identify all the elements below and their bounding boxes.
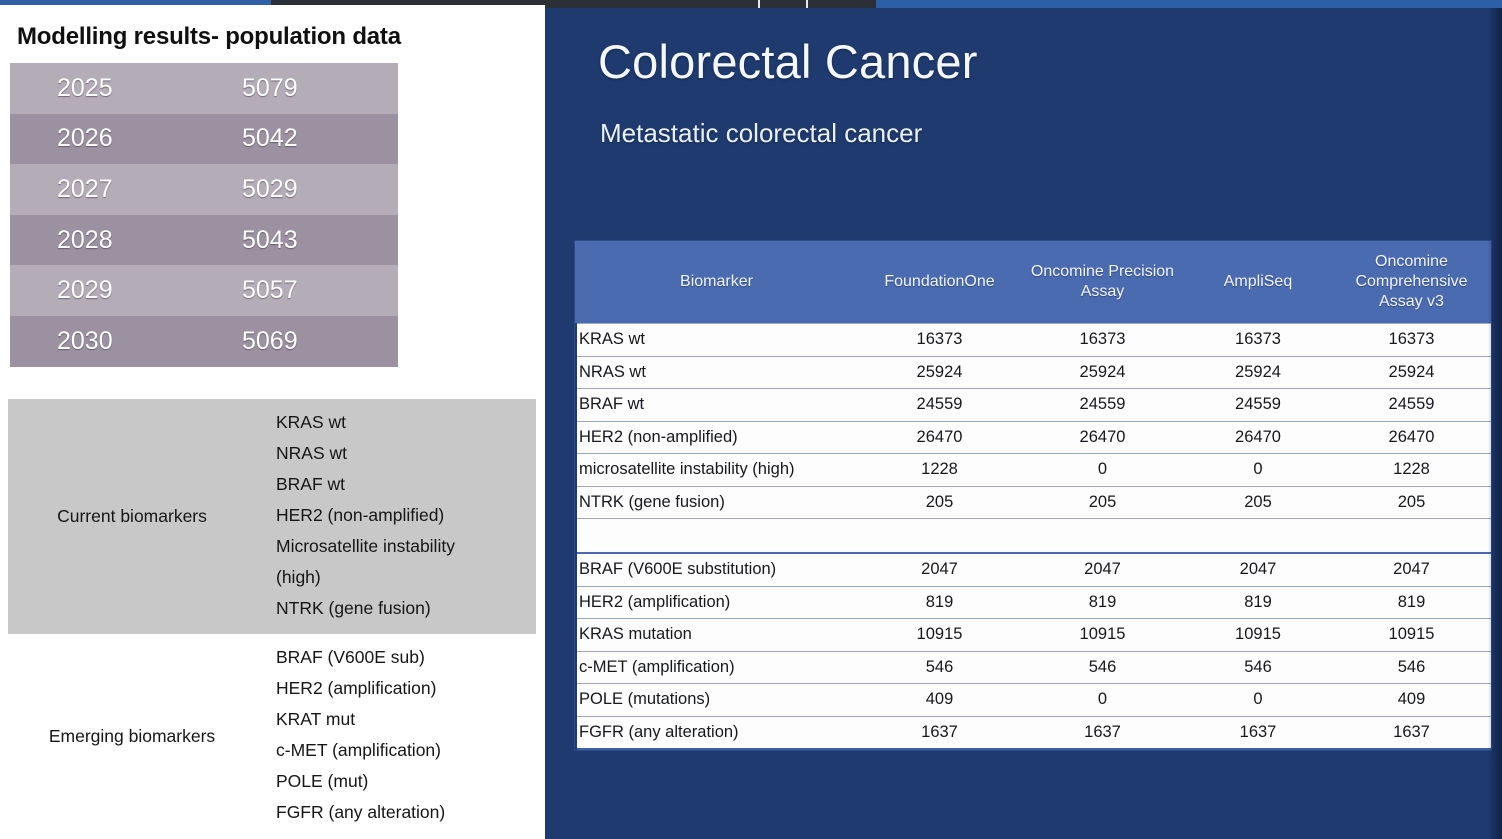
table-body: KRAS wt 16373 16373 16373 16373 NRAS wt … bbox=[575, 323, 1491, 750]
cell-biomarker: microsatellite instability (high) bbox=[575, 454, 858, 486]
page-title: Modelling results- population data bbox=[17, 23, 401, 51]
slide-title: Colorectal Cancer bbox=[598, 34, 978, 89]
cell-biomarker: FGFR (any alteration) bbox=[575, 717, 858, 749]
cell-foundationone: 2047 bbox=[858, 554, 1021, 586]
list-item: POLE (mut) bbox=[276, 766, 536, 797]
presentation-slide-panel: Colorectal Cancer Metastatic colorectal … bbox=[545, 8, 1502, 839]
modelling-value: 5042 bbox=[242, 124, 398, 153]
list-item: KRAS wt bbox=[276, 407, 536, 438]
column-header-biomarker: Biomarker bbox=[575, 241, 858, 323]
cell-oncomine-precision: 546 bbox=[1021, 652, 1184, 684]
cell-biomarker: BRAF (V600E substitution) bbox=[575, 554, 858, 586]
cell-biomarker: KRAS mutation bbox=[575, 619, 858, 651]
left-document-panel: Modelling results- population data 2025 … bbox=[0, 5, 545, 839]
column-header-oncomine-comprehensive: Oncomine Comprehensive Assay v3 bbox=[1332, 241, 1491, 323]
cell-oncomine-comprehensive: 24559 bbox=[1332, 389, 1491, 421]
column-header-foundationone: FoundationOne bbox=[858, 241, 1021, 323]
cell-biomarker: NTRK (gene fusion) bbox=[575, 487, 858, 519]
column-header-oncomine-precision: Oncomine Precision Assay bbox=[1021, 241, 1184, 323]
modelling-year: 2025 bbox=[10, 74, 242, 103]
cell-foundationone: 1637 bbox=[858, 717, 1021, 749]
table-row: HER2 (amplification) 819 819 819 819 bbox=[575, 586, 1491, 619]
table-header-row: Biomarker FoundationOne Oncomine Precisi… bbox=[575, 241, 1491, 323]
cell-oncomine-precision: 0 bbox=[1021, 684, 1184, 716]
cell-oncomine-comprehensive: 25924 bbox=[1332, 357, 1491, 389]
modelling-year: 2027 bbox=[10, 175, 242, 204]
cell-oncomine-comprehensive: 1637 bbox=[1332, 717, 1491, 749]
table-row: 2026 5042 bbox=[10, 114, 398, 165]
cell-oncomine-precision: 205 bbox=[1021, 487, 1184, 519]
cell-oncomine-precision: 1637 bbox=[1021, 717, 1184, 749]
cell-foundationone: 10915 bbox=[858, 619, 1021, 651]
list-item: HER2 (non-amplified) bbox=[276, 500, 536, 531]
cell-ampliseq: 16373 bbox=[1184, 324, 1332, 356]
table-spacer-row bbox=[575, 518, 1491, 552]
cell-biomarker: POLE (mutations) bbox=[575, 684, 858, 716]
cell-oncomine-comprehensive: 546 bbox=[1332, 652, 1491, 684]
table-row: NTRK (gene fusion) 205 205 205 205 bbox=[575, 486, 1491, 519]
list-item: BRAF (V600E sub) bbox=[276, 642, 536, 673]
cell-oncomine-comprehensive: 1228 bbox=[1332, 454, 1491, 486]
table-row: 2027 5029 bbox=[10, 164, 398, 215]
cell-ampliseq: 2047 bbox=[1184, 554, 1332, 586]
modelling-results-table: 2025 5079 2026 5042 2027 5029 2028 5043 … bbox=[10, 63, 398, 367]
cell-oncomine-precision: 25924 bbox=[1021, 357, 1184, 389]
modelling-value: 5043 bbox=[242, 226, 398, 255]
table-row: POLE (mutations) 409 0 0 409 bbox=[575, 683, 1491, 716]
list-item: HER2 (amplification) bbox=[276, 673, 536, 704]
table-row: BRAF (V600E substitution) 2047 2047 2047… bbox=[575, 552, 1491, 586]
cell-ampliseq: 10915 bbox=[1184, 619, 1332, 651]
cell-oncomine-comprehensive: 26470 bbox=[1332, 422, 1491, 454]
list-item: (high) bbox=[276, 562, 536, 593]
list-item: FGFR (any alteration) bbox=[276, 797, 536, 828]
table-row: HER2 (non-amplified) 26470 26470 26470 2… bbox=[575, 421, 1491, 454]
biomarker-group-label: Current biomarkers bbox=[8, 399, 270, 634]
cell-biomarker: HER2 (non-amplified) bbox=[575, 422, 858, 454]
cell-oncomine-precision: 0 bbox=[1021, 454, 1184, 486]
column-header-ampliseq: AmpliSeq bbox=[1184, 241, 1332, 323]
cell-foundationone: 26470 bbox=[858, 422, 1021, 454]
cell-oncomine-precision: 26470 bbox=[1021, 422, 1184, 454]
list-item: NRAS wt bbox=[276, 438, 536, 469]
slide-subtitle: Metastatic colorectal cancer bbox=[600, 118, 922, 149]
cell-oncomine-precision: 2047 bbox=[1021, 554, 1184, 586]
cell-oncomine-comprehensive: 205 bbox=[1332, 487, 1491, 519]
cell-biomarker: c-MET (amplification) bbox=[575, 652, 858, 684]
cell-ampliseq: 0 bbox=[1184, 684, 1332, 716]
assay-comparison-table: Biomarker FoundationOne Oncomine Precisi… bbox=[574, 240, 1492, 751]
biomarker-group-current: Current biomarkers KRAS wt NRAS wt BRAF … bbox=[8, 399, 536, 634]
modelling-value: 5069 bbox=[242, 327, 398, 356]
cell-foundationone: 1228 bbox=[858, 454, 1021, 486]
cell-oncomine-comprehensive: 409 bbox=[1332, 684, 1491, 716]
cell-foundationone: 16373 bbox=[858, 324, 1021, 356]
table-row: FGFR (any alteration) 1637 1637 1637 163… bbox=[575, 716, 1491, 751]
modelling-year: 2028 bbox=[10, 226, 242, 255]
biomarker-group-emerging: Emerging biomarkers BRAF (V600E sub) HER… bbox=[8, 634, 536, 838]
cell-oncomine-precision: 819 bbox=[1021, 587, 1184, 619]
list-item: c-MET (amplification) bbox=[276, 735, 536, 766]
modelling-year: 2030 bbox=[10, 327, 242, 356]
table-row: NRAS wt 25924 25924 25924 25924 bbox=[575, 356, 1491, 389]
cell-ampliseq: 26470 bbox=[1184, 422, 1332, 454]
list-item: Microsatellite instability bbox=[276, 531, 536, 562]
cell-ampliseq: 1637 bbox=[1184, 717, 1332, 749]
table-row: 2028 5043 bbox=[10, 215, 398, 266]
modelling-value: 5029 bbox=[242, 175, 398, 204]
cell-biomarker: BRAF wt bbox=[575, 389, 858, 421]
table-row: microsatellite instability (high) 1228 0… bbox=[575, 453, 1491, 486]
cell-ampliseq: 25924 bbox=[1184, 357, 1332, 389]
cell-foundationone: 25924 bbox=[858, 357, 1021, 389]
modelling-year: 2029 bbox=[10, 276, 242, 305]
table-row: 2030 5069 bbox=[10, 316, 398, 367]
cell-foundationone: 546 bbox=[858, 652, 1021, 684]
cell-foundationone: 819 bbox=[858, 587, 1021, 619]
cell-foundationone: 409 bbox=[858, 684, 1021, 716]
cell-ampliseq: 24559 bbox=[1184, 389, 1332, 421]
table-left-rule bbox=[575, 323, 577, 750]
table-row: KRAS mutation 10915 10915 10915 10915 bbox=[575, 618, 1491, 651]
biomarker-group-items: BRAF (V600E sub) HER2 (amplification) KR… bbox=[270, 634, 536, 838]
cell-oncomine-precision: 24559 bbox=[1021, 389, 1184, 421]
cell-ampliseq: 546 bbox=[1184, 652, 1332, 684]
cell-oncomine-precision: 10915 bbox=[1021, 619, 1184, 651]
cell-oncomine-comprehensive: 16373 bbox=[1332, 324, 1491, 356]
cell-oncomine-comprehensive: 819 bbox=[1332, 587, 1491, 619]
cell-ampliseq: 0 bbox=[1184, 454, 1332, 486]
table-row: 2025 5079 bbox=[10, 63, 398, 114]
cell-ampliseq: 819 bbox=[1184, 587, 1332, 619]
cell-oncomine-comprehensive: 2047 bbox=[1332, 554, 1491, 586]
cell-ampliseq: 205 bbox=[1184, 487, 1332, 519]
cell-oncomine-comprehensive: 10915 bbox=[1332, 619, 1491, 651]
cell-foundationone: 205 bbox=[858, 487, 1021, 519]
modelling-year: 2026 bbox=[10, 124, 242, 153]
list-item: BRAF wt bbox=[276, 469, 536, 500]
modelling-value: 5057 bbox=[242, 276, 398, 305]
table-row: 2029 5057 bbox=[10, 265, 398, 316]
modelling-value: 5079 bbox=[242, 74, 398, 103]
table-row: BRAF wt 24559 24559 24559 24559 bbox=[575, 388, 1491, 421]
biomarker-group-items: KRAS wt NRAS wt BRAF wt HER2 (non-amplif… bbox=[270, 399, 536, 634]
cell-biomarker: NRAS wt bbox=[575, 357, 858, 389]
cell-biomarker: KRAS wt bbox=[575, 324, 858, 356]
biomarker-group-label: Emerging biomarkers bbox=[8, 634, 270, 838]
list-item: KRAT mut bbox=[276, 704, 536, 735]
cell-foundationone: 24559 bbox=[858, 389, 1021, 421]
cell-biomarker: HER2 (amplification) bbox=[575, 587, 858, 619]
biomarker-summary-table: Current biomarkers KRAS wt NRAS wt BRAF … bbox=[8, 399, 536, 819]
cell-oncomine-precision: 16373 bbox=[1021, 324, 1184, 356]
slide-edge-vignette bbox=[1488, 8, 1502, 839]
table-row: KRAS wt 16373 16373 16373 16373 bbox=[575, 323, 1491, 356]
table-row: c-MET (amplification) 546 546 546 546 bbox=[575, 651, 1491, 684]
list-item: NTRK (gene fusion) bbox=[276, 593, 536, 624]
